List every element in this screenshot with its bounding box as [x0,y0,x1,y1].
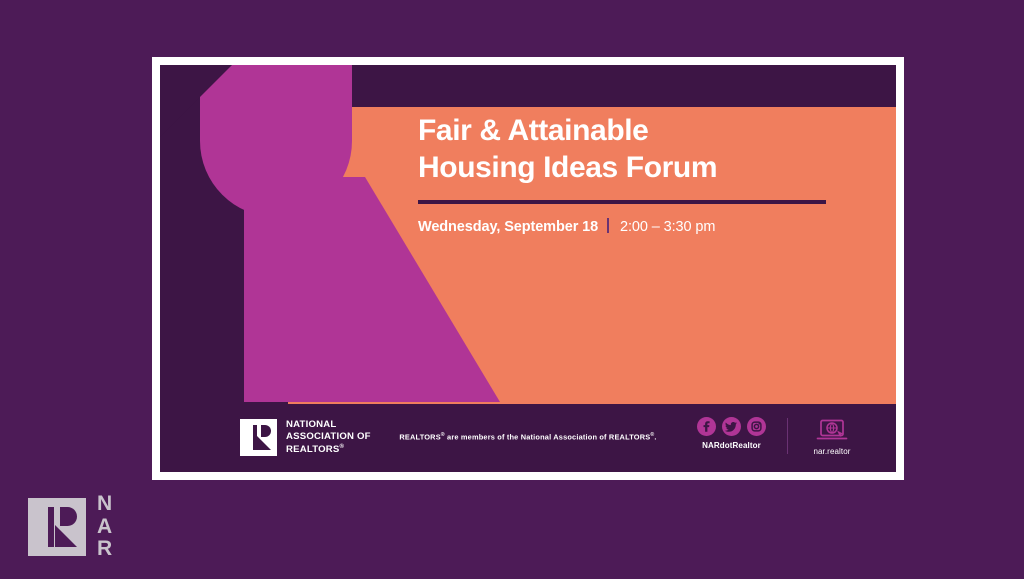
nar-wordmark-line-1: NATIONAL [286,419,371,431]
footer-row: NATIONAL ASSOCIATION OF REALTORS® REALTO… [160,404,896,472]
r-mark-gap [253,425,257,450]
headline-block: Fair & Attainable Housing Ideas Forum We… [418,113,838,235]
social-icon-row [697,417,766,436]
nar-watermark-letters: N A R [97,493,113,561]
web-cluster: nar.realtor [800,418,864,456]
nar-wordmark-line-3: REALTORS® [286,444,371,456]
footer-separator [787,418,788,454]
meta-divider-bar [607,218,609,233]
facebook-icon[interactable] [697,417,716,436]
headline-line-2: Housing Ideas Forum [418,150,838,187]
web-url: nar.realtor [800,447,864,456]
event-meta: Wednesday, September 18 2:00 – 3:30 pm [418,218,838,235]
nar-watermark: N A R [28,493,113,561]
nar-wordmark: NATIONAL ASSOCIATION OF REALTORS® [286,419,371,456]
nar-wordmark-line-2: ASSOCIATION OF [286,431,371,443]
instagram-icon[interactable] [747,417,766,436]
nar-r-mark-icon [240,419,277,456]
watermark-letter-n: N [97,493,113,516]
event-time: 2:00 – 3:30 pm [620,219,715,235]
slide-artwork: Fair & Attainable Housing Ideas Forum We… [160,65,896,472]
poster-canvas: Fair & Attainable Housing Ideas Forum We… [0,0,1024,579]
footer-disclaimer: REALTORS® are members of the National As… [399,432,656,441]
nar-r-mark-icon [28,498,86,556]
r-mark-leg [257,436,271,450]
twitter-icon[interactable] [722,417,741,436]
r-mark-gap [48,507,54,547]
r-mark-bowl [261,425,271,437]
laptop-globe-icon[interactable] [816,418,848,442]
social-cluster: NARdotRealtor [697,417,766,450]
watermark-letter-a: A [97,516,113,539]
event-date: Wednesday, September 18 [418,219,598,235]
headline-line-1: Fair & Attainable [418,113,838,150]
headline-divider-rule [418,200,826,204]
r-mark-leg [55,525,77,547]
social-handle: NARdotRealtor [697,441,766,450]
watermark-letter-r: R [97,538,113,561]
r-mark-bowl [60,507,77,526]
slide-frame: Fair & Attainable Housing Ideas Forum We… [152,57,904,480]
nar-logo-lockup: NATIONAL ASSOCIATION OF REALTORS® [240,419,371,456]
